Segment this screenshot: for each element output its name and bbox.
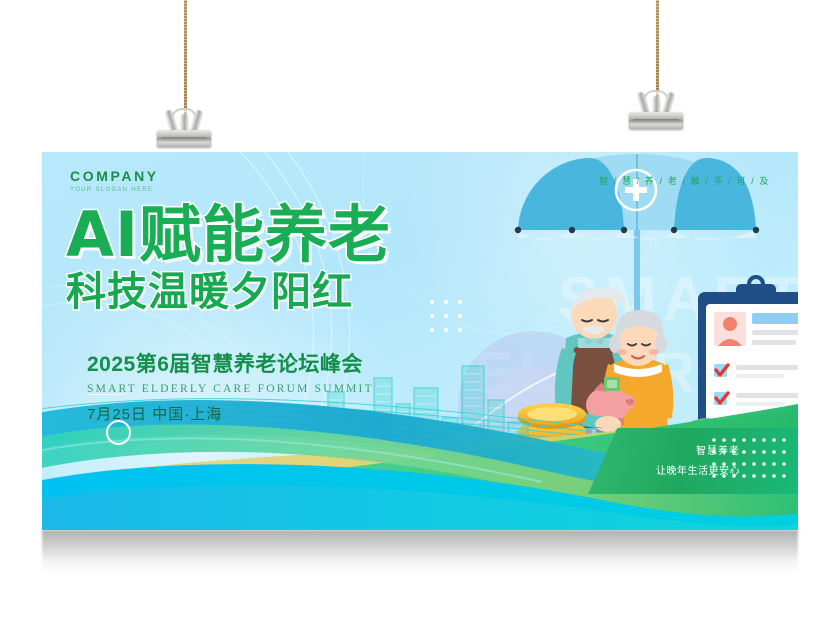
clip-body <box>157 130 211 147</box>
banner-drop-shadow <box>42 530 798 574</box>
headline-main: AI赋能养老 <box>66 204 391 266</box>
event-dateline: 7月25日 中国·上海 <box>87 403 222 424</box>
badge-dot-grid <box>588 428 798 494</box>
company-logo-block: COMPANY YOUR SLOGAN HERE <box>70 168 159 193</box>
divider-rule <box>87 394 125 395</box>
top-right-slogan: 智 / 慧 / 养 / 老 / 触 / 手 / 可 / 及 <box>599 174 770 187</box>
bottom-right-badge: 智慧养老 让晚年生活更安心 <box>588 428 798 494</box>
circle-accent-icon <box>106 420 131 445</box>
headline-sub: 科技温暖夕阳红 <box>66 272 391 312</box>
forum-title-block: 2025第6届智慧养老论坛峰会 SMART ELDERLY CARE FORUM… <box>87 348 374 395</box>
clip-body <box>629 112 683 129</box>
company-slogan: YOUR SLOGAN HERE <box>70 187 159 193</box>
binder-clip-right <box>629 112 683 129</box>
forum-title-en: SMART ELDERLY CARE FORUM SUMMIT <box>87 383 374 395</box>
headline-block: AI赋能养老 科技温暖夕阳红 <box>66 204 391 312</box>
binder-clip-left <box>157 130 211 147</box>
company-name: COMPANY <box>70 168 159 184</box>
forum-title-cn: 2025第6届智慧养老论坛峰会 <box>87 348 374 378</box>
event-poster-banner: SMART ELDERLY <box>42 152 798 530</box>
